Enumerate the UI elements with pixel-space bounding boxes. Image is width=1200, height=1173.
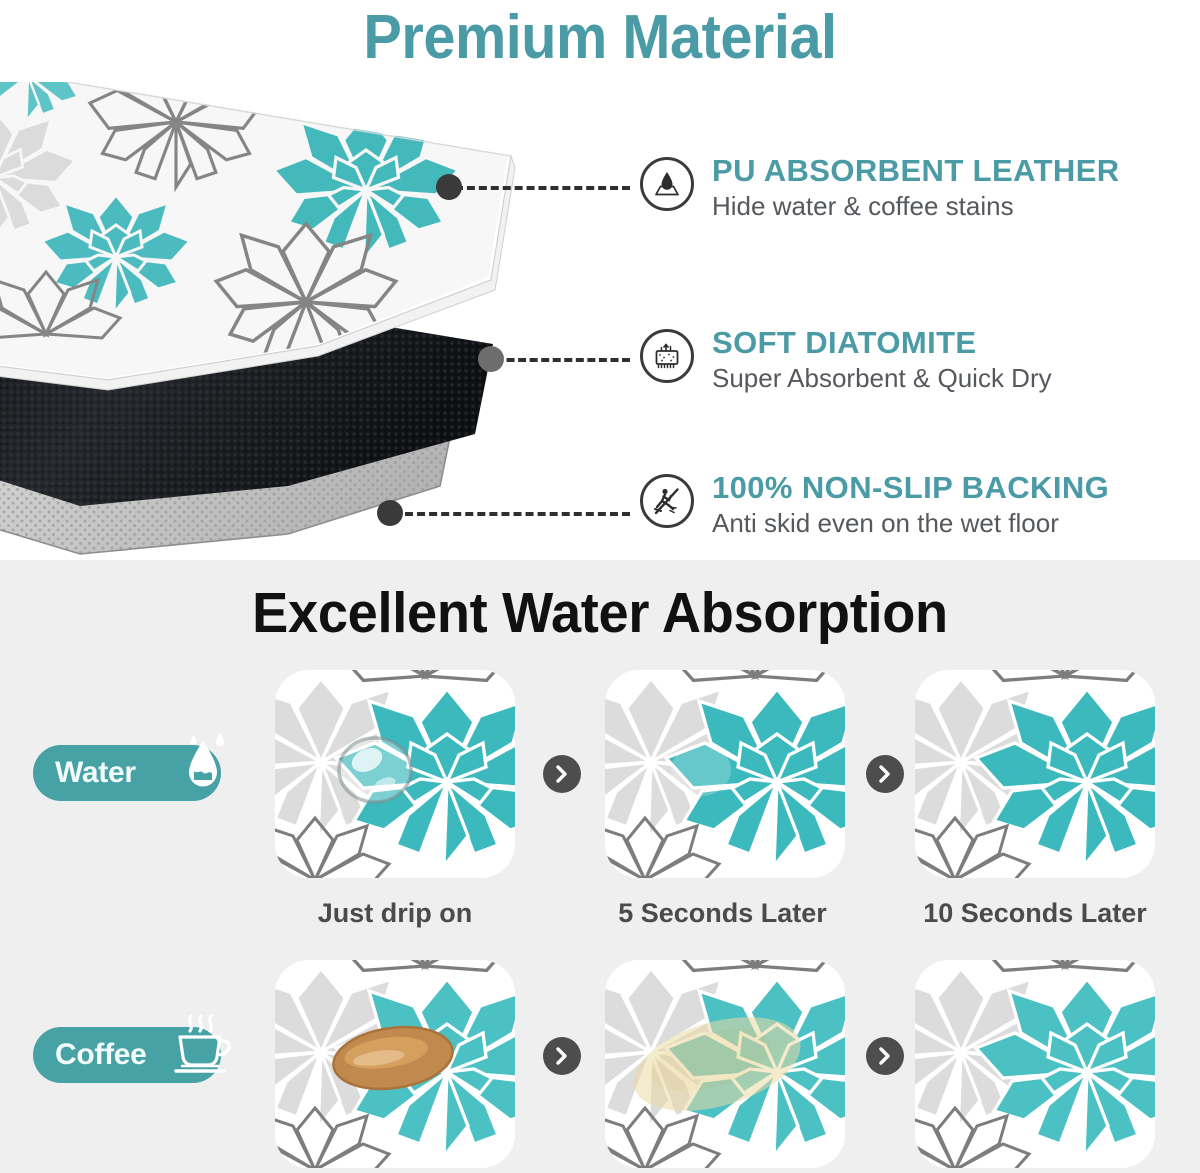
label-water: Water	[33, 745, 221, 801]
feature-pu-absorbent-leather: PU ABSORBENT LEATHER Hide water & coffee…	[640, 155, 1120, 220]
caption-stage-2: 5 Seconds Later	[590, 898, 855, 929]
product-infographic: Premium Material	[0, 0, 1200, 1173]
connector-dot-1	[436, 174, 462, 200]
feature-text-2: SOFT DIATOMITE Super Absorbent & Quick D…	[712, 327, 1052, 392]
connector-dot-3	[377, 500, 403, 526]
water-droplet	[339, 738, 411, 802]
tile-water-stage-3	[915, 670, 1155, 878]
chevron-right-icon	[866, 755, 904, 793]
feature-subtitle-1: Hide water & coffee stains	[712, 192, 1120, 221]
connector-dot-2	[478, 346, 504, 372]
tile-water-stage-2	[605, 670, 845, 878]
tile-coffee-stage-1	[275, 960, 515, 1168]
water-drop-on-mat-icon	[640, 157, 694, 211]
feature-title-1: PU ABSORBENT LEATHER	[712, 155, 1120, 188]
water-drop-icon	[173, 727, 231, 806]
page-title: Premium Material	[42, 2, 1158, 73]
section-title: Excellent Water Absorption	[30, 580, 1170, 646]
no-slip-person-icon	[640, 474, 694, 528]
label-water-text: Water	[55, 756, 136, 790]
product-photo-layered-mat	[0, 82, 548, 560]
label-coffee: Coffee	[33, 1027, 221, 1083]
feature-title-3: 100% NON-SLIP BACKING	[712, 472, 1109, 505]
label-coffee-text: Coffee	[55, 1038, 147, 1072]
premium-material-section: Premium Material	[0, 0, 1200, 560]
feature-non-slip-backing: 100% NON-SLIP BACKING Anti skid even on …	[640, 472, 1109, 537]
feature-title-2: SOFT DIATOMITE	[712, 327, 1052, 360]
connector-line-2	[495, 358, 630, 362]
tile-coffee-stage-2	[605, 960, 845, 1168]
tile-coffee-stage-3	[915, 960, 1155, 1168]
connector-line-3	[405, 512, 630, 516]
feature-subtitle-3: Anti skid even on the wet floor	[712, 509, 1109, 538]
caption-stage-3: 10 Seconds Later	[900, 898, 1170, 929]
feature-soft-diatomite: SOFT DIATOMITE Super Absorbent & Quick D…	[640, 327, 1052, 392]
diatomite-absorption-icon	[640, 329, 694, 383]
feature-subtitle-2: Super Absorbent & Quick Dry	[712, 364, 1052, 393]
tile-water-stage-1	[275, 670, 515, 878]
feature-text-1: PU ABSORBENT LEATHER Hide water & coffee…	[712, 155, 1120, 220]
chevron-right-icon	[543, 1037, 581, 1075]
coffee-cup-icon	[168, 1005, 238, 1090]
connector-line-1	[455, 186, 630, 190]
caption-stage-1: Just drip on	[275, 898, 515, 929]
feature-text-3: 100% NON-SLIP BACKING Anti skid even on …	[712, 472, 1109, 537]
chevron-right-icon	[543, 755, 581, 793]
chevron-right-icon	[866, 1037, 904, 1075]
